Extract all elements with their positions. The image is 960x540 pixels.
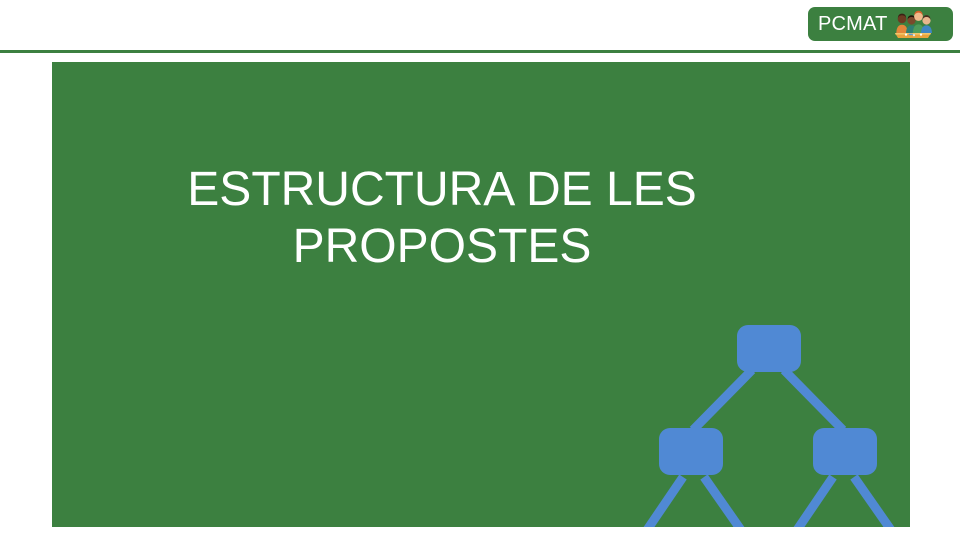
tree-node-mid-1 [659,428,723,475]
edge-root-mid-1 [693,370,752,430]
slide-content-panel: ESTRUCTURA DE LES PROPOSTES [52,62,910,527]
header-divider-rule [0,50,960,53]
tree-node-root [737,325,801,372]
tree-node-mid-2 [813,428,877,475]
pcmat-brand-label: PCMAT [818,14,888,34]
hierarchy-tree-diagram [547,252,887,517]
edge-mid-1-leaf-1 [647,477,683,527]
pcmat-brand-badge[interactable]: PCMAT [808,7,953,41]
slide-canvas: PCMAT [0,0,960,540]
edge-mid-2-leaf-3 [797,477,833,527]
pcmat-children-table-illustration-icon [892,9,934,39]
slide-header: PCMAT [0,0,960,50]
edge-root-mid-2 [784,370,843,430]
edge-mid-2-leaf-4 [854,477,891,527]
edge-mid-1-leaf-2 [704,477,741,527]
